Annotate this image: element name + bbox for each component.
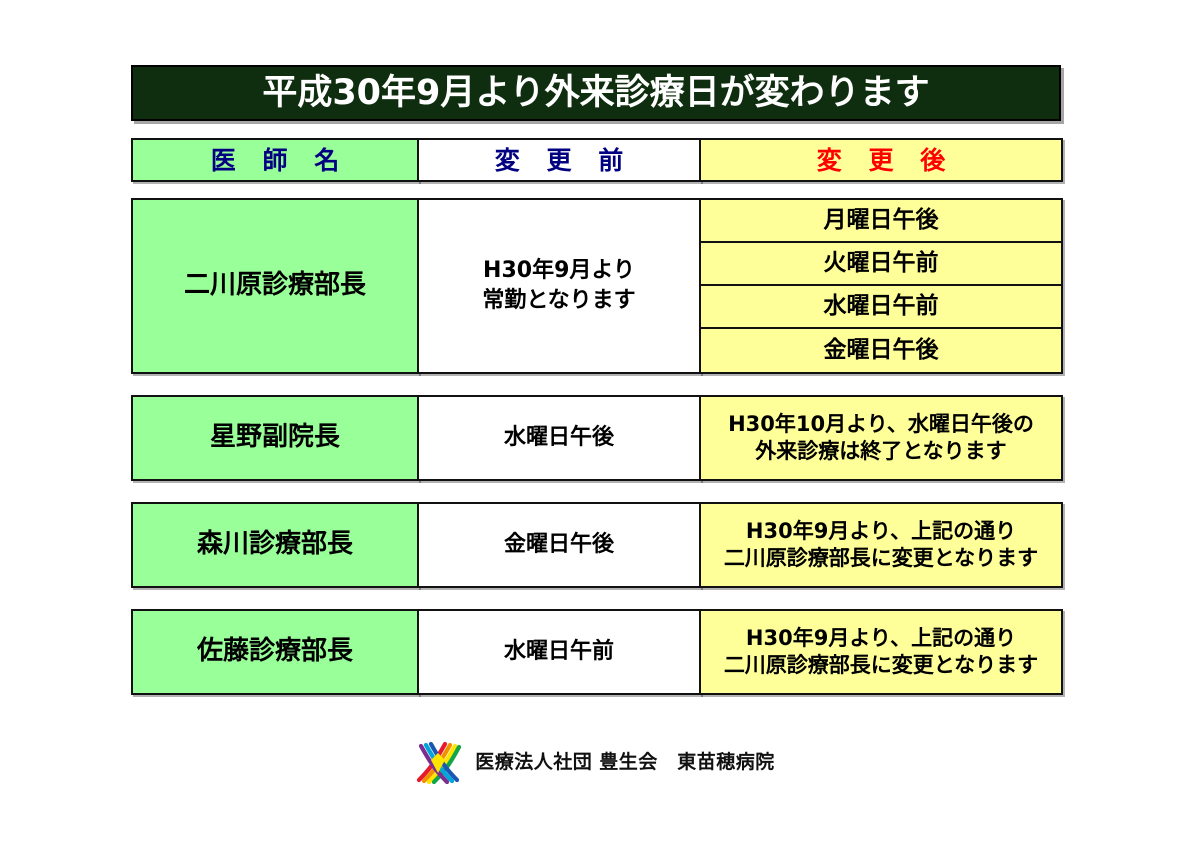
cell-before-schedule: 金曜日午後: [417, 502, 701, 588]
after-schedule-item: 月曜日午後: [701, 200, 1061, 243]
after-schedule-item-label: 水曜日午前: [824, 295, 939, 318]
after-schedule-item: 金曜日午後: [701, 329, 1061, 372]
header-cell-before: 変 更 前: [417, 138, 701, 182]
after-schedule-item-label: 火曜日午前: [824, 252, 939, 275]
after-schedule-line-2: 二川原診療部長に変更となります: [724, 653, 1038, 677]
schedule-change-table: 医 師 名 変 更 前 変 更 後 二川原診療部長 H30年9月より 常勤となり…: [131, 138, 1063, 716]
table-header-row: 医 師 名 変 更 前 変 更 後: [131, 138, 1063, 182]
before-schedule-label: 水曜日午後: [504, 423, 614, 453]
after-schedule-line-1: H30年9月より、上記の通り: [746, 519, 1016, 543]
before-schedule-line-2: 常勤となります: [482, 288, 635, 313]
header-label-after: 変 更 後: [808, 148, 954, 173]
doctor-name-label: 星野副院長: [210, 422, 340, 453]
header-label-doctor-name: 医 師 名: [202, 148, 348, 173]
table-row: 二川原診療部長 H30年9月より 常勤となります 月曜日午後 火曜日午前 水曜日…: [131, 198, 1063, 374]
before-schedule-label: 金曜日午後: [504, 530, 614, 560]
header-cell-after: 変 更 後: [699, 138, 1063, 182]
after-schedule-label: H30年10月より、水曜日午後の 外来診療は終了となります: [728, 411, 1034, 466]
after-schedule-line-2: 外来診療は終了となります: [755, 439, 1006, 463]
cell-doctor-name: 森川診療部長: [131, 502, 419, 588]
page-title: 平成30年9月より外来診療日が変わります: [262, 76, 929, 111]
cell-doctor-name: 星野副院長: [131, 395, 419, 481]
cell-after-schedule: H30年10月より、水曜日午後の 外来診療は終了となります: [699, 395, 1063, 481]
hospital-rainbow-logo-icon: [415, 740, 461, 784]
cell-after-schedule: H30年9月より、上記の通り 二川原診療部長に変更となります: [699, 502, 1063, 588]
footer-organization-name: 医療法人社団 豊生会 東苗穂病院: [475, 753, 775, 772]
after-schedule-label: H30年9月より、上記の通り 二川原診療部長に変更となります: [724, 625, 1038, 680]
notice-page: 平成30年9月より外来診療日が変わります 医 師 名 変 更 前 変 更 後 二…: [0, 0, 1190, 842]
after-schedule-line-1: H30年9月より、上記の通り: [746, 626, 1016, 650]
doctor-name-label: 佐藤診療部長: [197, 636, 353, 667]
cell-after-schedule: H30年9月より、上記の通り 二川原診療部長に変更となります: [699, 609, 1063, 695]
footer: 医療法人社団 豊生会 東苗穂病院: [0, 740, 1190, 784]
cell-after-schedule: 月曜日午後 火曜日午前 水曜日午前 金曜日午後: [699, 198, 1063, 374]
header-cell-doctor-name: 医 師 名: [131, 138, 419, 182]
table-row: 星野副院長 水曜日午後 H30年10月より、水曜日午後の 外来診療は終了となりま…: [131, 395, 1063, 481]
table-row: 佐藤診療部長 水曜日午前 H30年9月より、上記の通り 二川原診療部長に変更とな…: [131, 609, 1063, 695]
cell-before-schedule: 水曜日午前: [417, 609, 701, 695]
before-schedule-label: H30年9月より 常勤となります: [482, 256, 635, 315]
after-schedule-label: H30年9月より、上記の通り 二川原診療部長に変更となります: [724, 518, 1038, 573]
cell-before-schedule: H30年9月より 常勤となります: [417, 198, 701, 374]
header-label-before: 変 更 前: [486, 148, 632, 173]
after-schedule-item: 水曜日午前: [701, 286, 1061, 329]
page-title-banner: 平成30年9月より外来診療日が変わります: [131, 65, 1061, 121]
after-schedule-item-label: 月曜日午後: [824, 209, 939, 232]
after-schedule-item: 火曜日午前: [701, 243, 1061, 286]
after-schedule-item-label: 金曜日午後: [824, 339, 939, 362]
doctor-name-label: 森川診療部長: [197, 529, 353, 560]
before-schedule-label: 水曜日午前: [504, 637, 614, 667]
cell-before-schedule: 水曜日午後: [417, 395, 701, 481]
after-schedule-line-1: H30年10月より、水曜日午後の: [728, 412, 1034, 436]
doctor-name-label: 二川原診療部長: [184, 270, 366, 301]
cell-doctor-name: 佐藤診療部長: [131, 609, 419, 695]
table-row: 森川診療部長 金曜日午後 H30年9月より、上記の通り 二川原診療部長に変更とな…: [131, 502, 1063, 588]
after-schedule-line-2: 二川原診療部長に変更となります: [724, 546, 1038, 570]
cell-doctor-name: 二川原診療部長: [131, 198, 419, 374]
before-schedule-line-1: H30年9月より: [483, 258, 635, 283]
